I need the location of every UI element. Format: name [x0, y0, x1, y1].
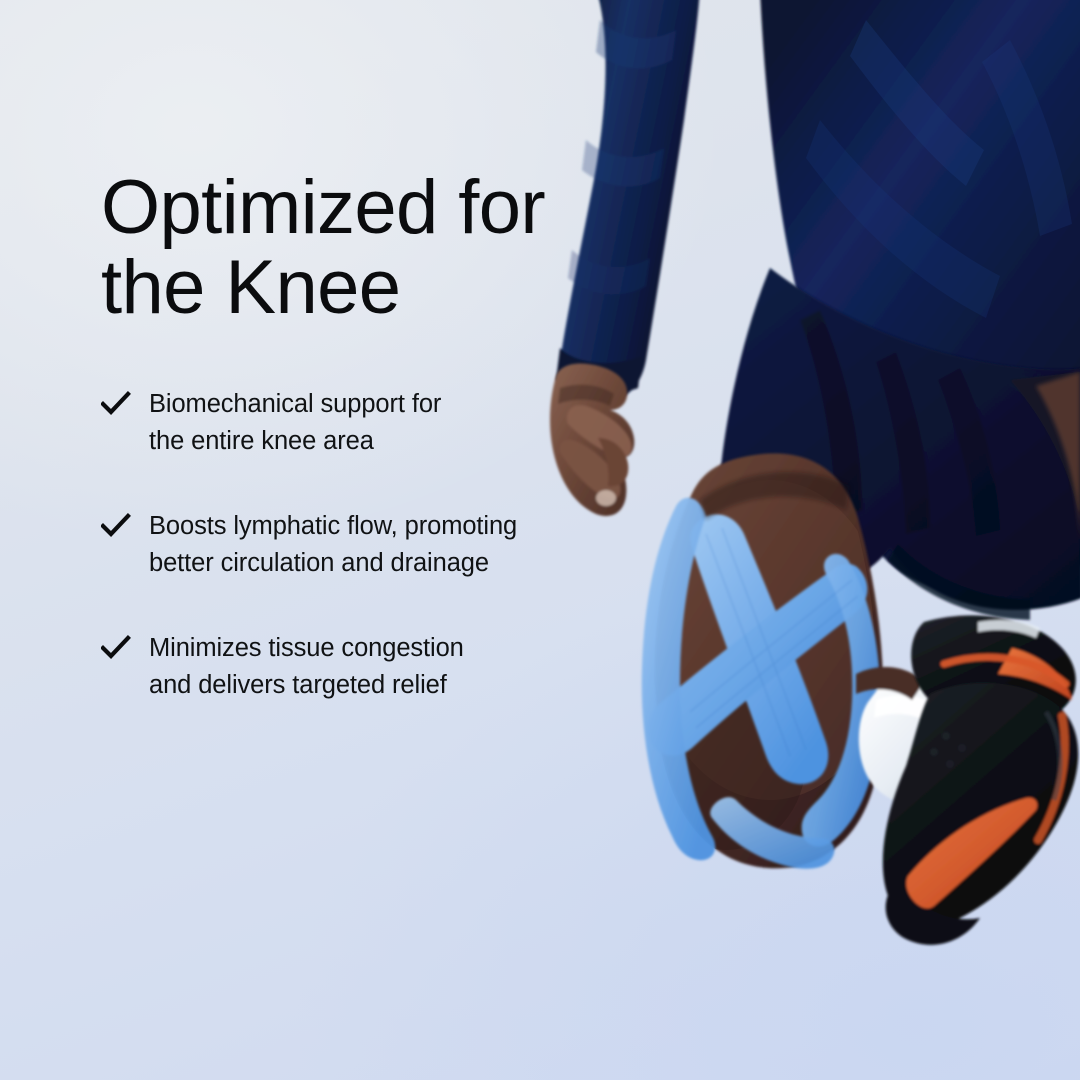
list-item-label: Minimizes tissue congestion and delivers… — [149, 630, 571, 704]
list-item: Minimizes tissue congestion and delivers… — [101, 630, 571, 704]
soccer-cleat-shape — [883, 615, 1078, 944]
check-icon — [101, 513, 131, 539]
promo-graphic: Optimized for the Knee Biomechanical sup… — [0, 0, 1080, 1080]
list-item-label: Boosts lymphatic flow, promoting better … — [149, 508, 571, 582]
list-item: Biomechanical support for the entire kne… — [101, 386, 571, 460]
page-title: Optimized for the Knee — [101, 168, 571, 328]
list-item: Boosts lymphatic flow, promoting better … — [101, 508, 571, 582]
feature-list: Biomechanical support for the entire kne… — [101, 386, 571, 704]
check-icon — [101, 635, 131, 661]
sleeve-shape — [556, 0, 700, 404]
list-item-label: Biomechanical support for the entire kne… — [149, 386, 571, 460]
check-icon — [101, 391, 131, 417]
